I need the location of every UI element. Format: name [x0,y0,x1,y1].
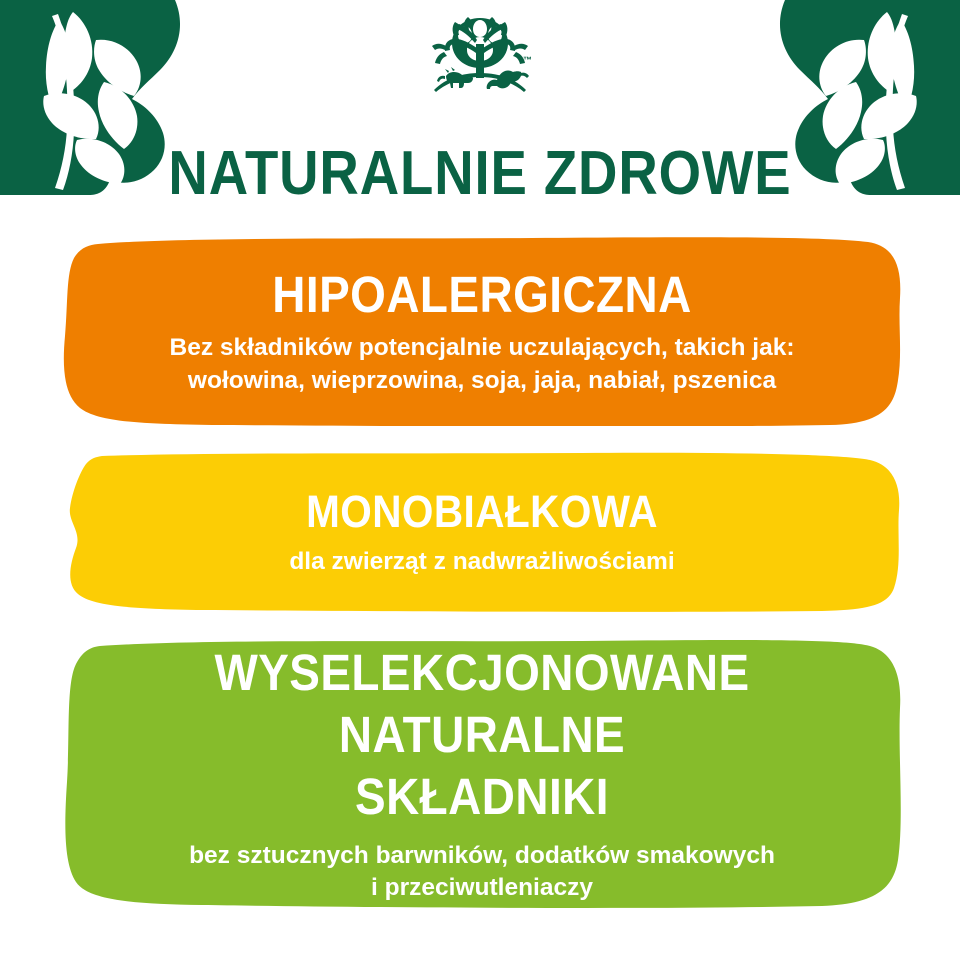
banner-subtitle-monoprotein: dla zwierząt z nadwrażliwościami [90,546,874,578]
banner-heading-natural-line1: WYSELEKCJONOWANE NATURALNE [129,642,835,766]
feature-banner-hypoallergenic: HIPOALERGICZNA Bez składników potencjaln… [62,236,902,426]
infographic-page: ™ NATURALNIE ZDROWE HIPOALERGICZNA Bez s… [0,0,960,960]
trademark-symbol: ™ [523,55,532,65]
feature-banner-monoprotein: MONOBIAŁKOWA dla zwierząt z nadwrażliwoś… [62,452,902,612]
banner-heading-hypoallergenic: HIPOALERGICZNA [129,266,835,324]
banner-subtitle-hypoallergenic-line1: Bez składników potencjalnie uczulających… [90,331,874,364]
banner-heading-natural-line2: SKŁADNIKI [129,766,835,828]
banner-subtitle-natural-line2: i przeciwutleniaczy [90,872,874,904]
banner-subtitle-hypoallergenic-line2: wołowina, wieprzowina, soja, jaja, nabia… [90,364,874,397]
banner-subtitle-natural-line1: bez sztucznych barwników, dodatków smako… [90,840,874,872]
brand-logo: ™ [420,16,540,92]
page-title: NATURALNIE ZDROWE [58,139,903,209]
tree-paw-cat-dog-icon [432,17,529,92]
feature-banner-natural-ingredients: WYSELEKCJONOWANE NATURALNE SKŁADNIKI bez… [62,638,902,908]
banner-heading-monoprotein: MONOBIAŁKOWA [129,486,835,538]
